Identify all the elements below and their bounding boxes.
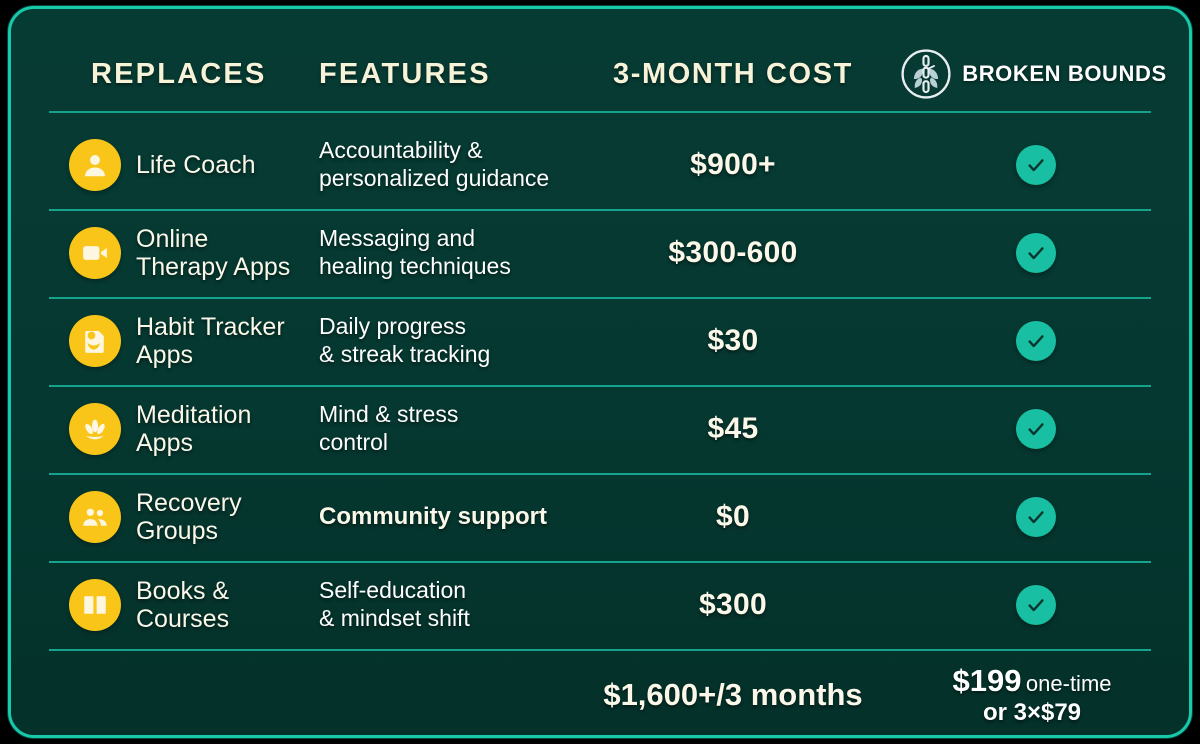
comparison-table-card: REPLACES FEATURES 3-MONTH COST — [8, 6, 1192, 738]
header-cell-features: FEATURES — [311, 58, 583, 91]
check-icon — [1016, 409, 1056, 449]
person-icon — [69, 139, 121, 191]
offer-block: $199 one-time or 3×$79 — [883, 663, 1189, 728]
row-cost-cell: $900+ — [583, 148, 883, 182]
row-features-label: Accountability & personalized guidance — [319, 137, 549, 191]
footer-total-label: $1,600+/3 months — [603, 677, 862, 712]
row-replaces-label: Meditation Apps — [136, 401, 251, 457]
row-features-cell: Community support — [311, 503, 583, 532]
row-features-cell: Messaging and healing techniques — [311, 225, 583, 280]
table-row: Life Coach Accountability & personalized… — [11, 121, 1189, 209]
check-icon — [1016, 233, 1056, 273]
row-features-cell: Self-education & mindset shift — [311, 577, 583, 632]
header-cell-replaces: REPLACES — [11, 58, 311, 91]
table-footer: $1,600+/3 months $199 one-time or 3×$79 — [11, 657, 1189, 733]
brand-name: BROKEN BOUNDS — [962, 61, 1167, 87]
table-row: Habit Tracker Apps Daily progress & stre… — [11, 297, 1189, 385]
lotus-flower-icon — [69, 403, 121, 455]
check-icon — [1016, 145, 1056, 185]
row-cost-cell: $300-600 — [583, 236, 883, 270]
offer-price: $199 — [952, 663, 1021, 698]
table-row: Online Therapy Apps Messaging and healin… — [11, 209, 1189, 297]
table-row: Books & Courses Self-education & mindset… — [11, 561, 1189, 649]
offer-alt: or 3×$79 — [883, 699, 1181, 727]
broken-chain-leaf-logo-icon — [899, 47, 953, 101]
table-row: Recovery Groups Community support $0 — [11, 473, 1189, 561]
row-cost-label: $300 — [699, 588, 767, 621]
divider-header — [49, 111, 1151, 113]
row-replaces-cell: Recovery Groups — [11, 489, 311, 545]
row-features-cell: Accountability & personalized guidance — [311, 137, 583, 192]
row-cost-label: $45 — [708, 412, 759, 445]
row-cost-label: $30 — [708, 324, 759, 357]
row-cost-label: $900+ — [690, 148, 776, 181]
brand-lockup: BROKEN BOUNDS — [883, 47, 1189, 101]
footer-total-cell: $1,600+/3 months — [583, 677, 883, 713]
video-camera-icon — [69, 227, 121, 279]
row-features-label: Self-education & mindset shift — [319, 577, 470, 631]
divider-footer — [49, 649, 1151, 651]
people-group-icon — [69, 491, 121, 543]
table-row: Meditation Apps Mind & stress control $4… — [11, 385, 1189, 473]
open-book-icon — [69, 579, 121, 631]
row-features-label: Community support — [319, 503, 547, 530]
habit-note-icon — [69, 315, 121, 367]
row-included-cell — [883, 409, 1189, 449]
footer-offer-cell: $199 one-time or 3×$79 — [883, 663, 1189, 728]
row-included-cell — [883, 585, 1189, 625]
row-replaces-cell: Habit Tracker Apps — [11, 313, 311, 369]
header-label-replaces: REPLACES — [69, 58, 267, 90]
card-inner: REPLACES FEATURES 3-MONTH COST — [11, 9, 1189, 735]
row-replaces-cell: Books & Courses — [11, 577, 311, 633]
check-icon — [1016, 497, 1056, 537]
row-included-cell — [883, 321, 1189, 361]
row-features-label: Messaging and healing techniques — [319, 225, 511, 279]
row-features-label: Mind & stress control — [319, 401, 458, 455]
row-cost-cell: $30 — [583, 324, 883, 358]
row-cost-cell: $0 — [583, 500, 883, 534]
header-cell-brand: BROKEN BOUNDS — [883, 47, 1189, 101]
offer-sub: one-time — [1026, 671, 1112, 696]
row-included-cell — [883, 497, 1189, 537]
header-cell-cost: 3-MONTH COST — [583, 58, 883, 91]
row-features-cell: Mind & stress control — [311, 401, 583, 456]
header-label-cost: 3-MONTH COST — [613, 58, 853, 90]
row-replaces-label: Books & Courses — [136, 577, 229, 633]
row-features-label: Daily progress & streak tracking — [319, 313, 490, 367]
row-cost-cell: $300 — [583, 588, 883, 622]
row-features-cell: Daily progress & streak tracking — [311, 313, 583, 368]
check-icon — [1016, 321, 1056, 361]
check-icon — [1016, 585, 1056, 625]
table-header: REPLACES FEATURES 3-MONTH COST — [11, 43, 1189, 105]
header-label-features: FEATURES — [319, 58, 491, 90]
row-replaces-label: Habit Tracker Apps — [136, 313, 285, 369]
row-cost-label: $300-600 — [668, 236, 797, 269]
row-replaces-cell: Life Coach — [11, 139, 311, 191]
row-replaces-cell: Online Therapy Apps — [11, 225, 311, 281]
offer-line-1: $199 one-time — [883, 663, 1181, 700]
row-cost-cell: $45 — [583, 412, 883, 446]
row-cost-label: $0 — [716, 500, 750, 533]
row-replaces-label: Recovery Groups — [136, 489, 242, 545]
row-replaces-label: Life Coach — [136, 151, 256, 179]
row-replaces-label: Online Therapy Apps — [136, 225, 290, 281]
row-included-cell — [883, 233, 1189, 273]
row-replaces-cell: Meditation Apps — [11, 401, 311, 457]
row-included-cell — [883, 145, 1189, 185]
